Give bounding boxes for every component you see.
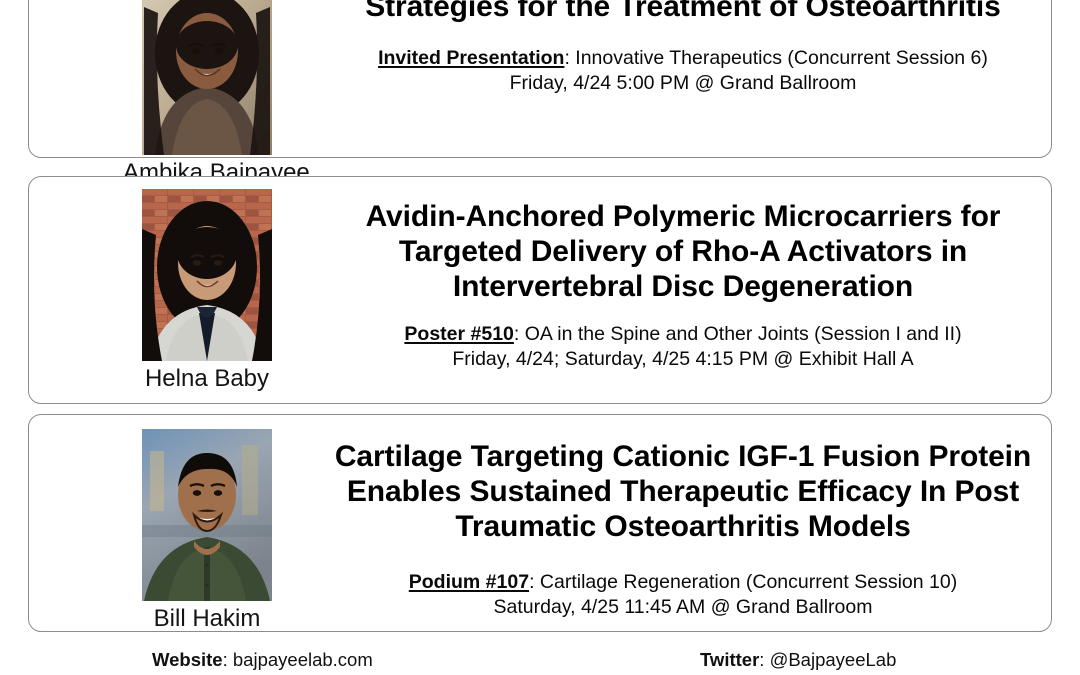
talk-title-line: Traumatic Osteoarthritis Models — [299, 509, 1067, 544]
talk-session-line: Poster #510: OA in the Spine and Other J… — [299, 322, 1067, 347]
talk-session-name: Innovative Therapeutics (Concurrent Sess… — [575, 47, 988, 69]
person-name: Helna Baby — [123, 365, 291, 393]
talk-type-label: Poster #510 — [404, 323, 514, 345]
footer-twitter[interactable]: Twitter: @BajpayeeLab — [700, 648, 896, 672]
footer-website-label: Website — [152, 649, 223, 670]
meta-separator: : — [514, 323, 525, 345]
talk-meta: Podium #107: Cartilage Regeneration (Con… — [299, 570, 1067, 620]
headshot-photo — [142, 189, 272, 361]
person-photo-column: Ambika Bajpayee — [123, 0, 291, 187]
talk-title-line: Avidin-Anchored Polymeric Microcarriers … — [299, 199, 1067, 234]
talk-title-line: Strategies for the Treatment of Osteoart… — [299, 0, 1067, 24]
talk-title: Strategies for the Treatment of Osteoart… — [299, 0, 1067, 24]
talk-title-line: Enables Sustained Therapeutic Efficacy I… — [299, 474, 1067, 509]
talk-type-label: Podium #107 — [409, 571, 529, 593]
talk-session-name: OA in the Spine and Other Joints (Sessio… — [525, 323, 962, 345]
talk-title: Cartilage Targeting Cationic IGF-1 Fusio… — [299, 439, 1067, 544]
person-name: Bill Hakim — [123, 605, 291, 633]
presentation-card: Helna Baby Avidin-Anchored Polymeric Mic… — [28, 176, 1052, 404]
talk-meta: Poster #510: OA in the Spine and Other J… — [299, 322, 1067, 372]
talk-text-column: Avidin-Anchored Polymeric Microcarriers … — [299, 199, 1067, 372]
talk-meta: Invited Presentation: Innovative Therape… — [299, 46, 1067, 96]
talk-datetime-location: Friday, 4/24 5:00 PM @ Grand Ballroom — [299, 71, 1067, 96]
talk-session-name: Cartilage Regeneration (Concurrent Sessi… — [540, 571, 957, 593]
talk-text-column: Cartilage Targeting Cationic IGF-1 Fusio… — [299, 439, 1067, 620]
footer: Website: bajpayeelab.com Twitter: @Bajpa… — [0, 648, 1080, 675]
footer-website[interactable]: Website: bajpayeelab.com — [152, 648, 373, 672]
person-photo-column: Helna Baby — [123, 189, 291, 393]
poster-page: Ambika Bajpayee Strategies for the Treat… — [0, 0, 1080, 675]
talk-title: Avidin-Anchored Polymeric Microcarriers … — [299, 199, 1067, 304]
talk-text-column: Strategies for the Treatment of Osteoart… — [299, 0, 1067, 96]
meta-separator: : — [529, 571, 540, 593]
footer-twitter-separator: : — [759, 649, 769, 670]
talk-title-line: Cartilage Targeting Cationic IGF-1 Fusio… — [299, 439, 1067, 474]
headshot-photo — [142, 429, 272, 601]
presentation-card: Bill Hakim Cartilage Targeting Cationic … — [28, 414, 1052, 632]
meta-separator: : — [564, 47, 575, 69]
footer-twitter-label: Twitter — [700, 649, 759, 670]
talk-session-line: Podium #107: Cartilage Regeneration (Con… — [299, 570, 1067, 595]
footer-twitter-handle[interactable]: @BajpayeeLab — [770, 649, 897, 670]
talk-session-line: Invited Presentation: Innovative Therape… — [299, 46, 1067, 71]
talk-datetime-location: Friday, 4/24; Saturday, 4/25 4:15 PM @ E… — [299, 347, 1067, 372]
talk-title-line: Targeted Delivery of Rho-A Activators in — [299, 234, 1067, 269]
footer-website-value[interactable]: bajpayeelab.com — [233, 649, 373, 670]
footer-website-separator: : — [223, 649, 233, 670]
talk-datetime-location: Saturday, 4/25 11:45 AM @ Grand Ballroom — [299, 595, 1067, 620]
headshot-photo — [142, 0, 272, 155]
talk-type-label: Invited Presentation — [378, 47, 564, 69]
talk-title-line: Intervertebral Disc Degeneration — [299, 269, 1067, 304]
person-photo-column: Bill Hakim — [123, 429, 291, 633]
presentation-card: Ambika Bajpayee Strategies for the Treat… — [28, 0, 1052, 158]
